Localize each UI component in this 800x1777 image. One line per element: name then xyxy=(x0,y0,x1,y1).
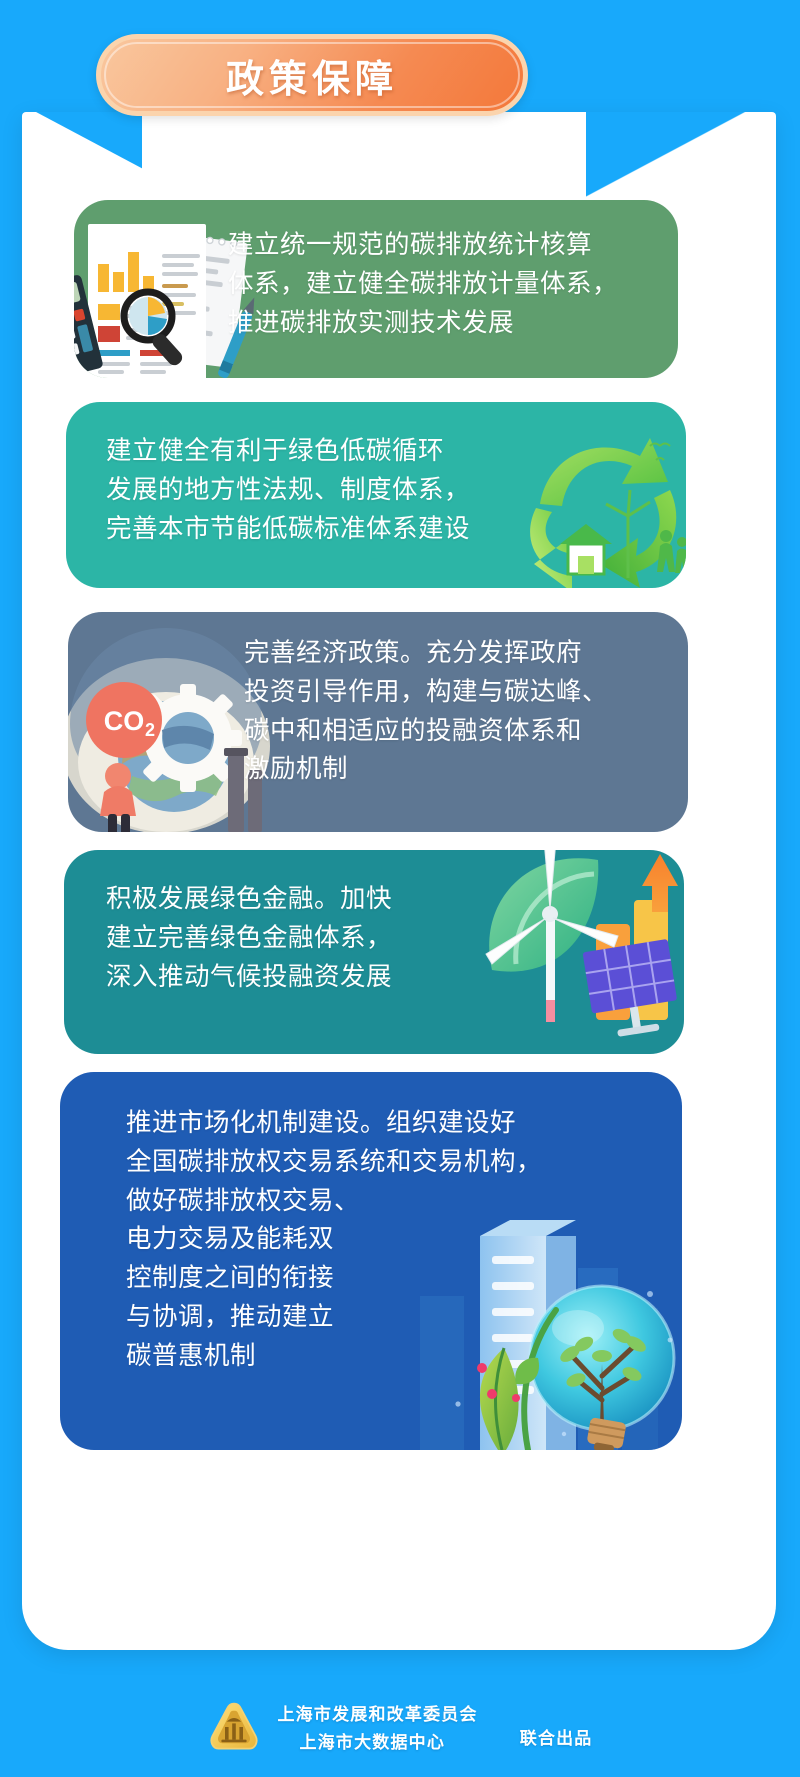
policy-card-3: CO 2 完善经济政策。充分发挥政府 投资引导作用，构建与碳达峰、 碳中和相适应… xyxy=(68,612,688,832)
policy-card-2: 建立健全有利于绿色低碳循环 发展的地方性法规、制度体系， 完善本市节能低碳标准体… xyxy=(66,402,686,588)
header-banner: 政策保障 xyxy=(96,34,528,116)
policy-card-2-text: 建立健全有利于绿色低碳循环 发展的地方性法规、制度体系， 完善本市节能低碳标准体… xyxy=(106,432,546,548)
footer-organizations: 上海市发展和改革委员会 上海市大数据中心 xyxy=(277,1700,477,1753)
svg-text:2: 2 xyxy=(145,720,155,740)
footer-joint-label: 联合出品 xyxy=(520,1724,593,1749)
svg-text:CO: CO xyxy=(104,706,145,736)
page-title: 政策保障 xyxy=(226,48,398,103)
shanghai-emblem-logo xyxy=(207,1700,261,1754)
footer-org-2: 上海市大数据中心 xyxy=(299,1728,477,1753)
policy-card-3-text: 完善经济政策。充分发挥政府 投资引导作用，构建与碳达峰、 碳中和相适应的投融资体… xyxy=(244,634,674,789)
policy-card-1: 建立统一规范的碳排放统计核算 体系，建立健全碳排放计量体系， 推进碳排放实测技术… xyxy=(74,200,678,378)
footer-org-1: 上海市发展和改革委员会 xyxy=(277,1700,477,1725)
policy-card-5-text: 推进市场化机制建设。组织建设好 全国碳排放权交易系统和交易机构， 做好碳排放权交… xyxy=(126,1104,586,1375)
card-list: 建立统一规范的碳排放统计核算 体系，建立健全碳排放计量体系， 推进碳排放实测技术… xyxy=(22,112,776,1650)
policy-card-4-text: 积极发展绿色金融。加快 建立完善绿色金融体系， 深入推动气候投融资发展 xyxy=(106,880,506,996)
policy-card-4: 积极发展绿色金融。加快 建立完善绿色金融体系， 深入推动气候投融资发展 xyxy=(64,850,684,1054)
policy-card-1-text: 建立统一规范的碳排放统计核算 体系，建立健全碳排放计量体系， 推进碳排放实测技术… xyxy=(228,226,668,342)
footer: 上海市发展和改革委员会 上海市大数据中心 联合出品 xyxy=(0,1676,800,1777)
policy-card-5: 推进市场化机制建设。组织建设好 全国碳排放权交易系统和交易机构， 做好碳排放权交… xyxy=(60,1072,682,1450)
